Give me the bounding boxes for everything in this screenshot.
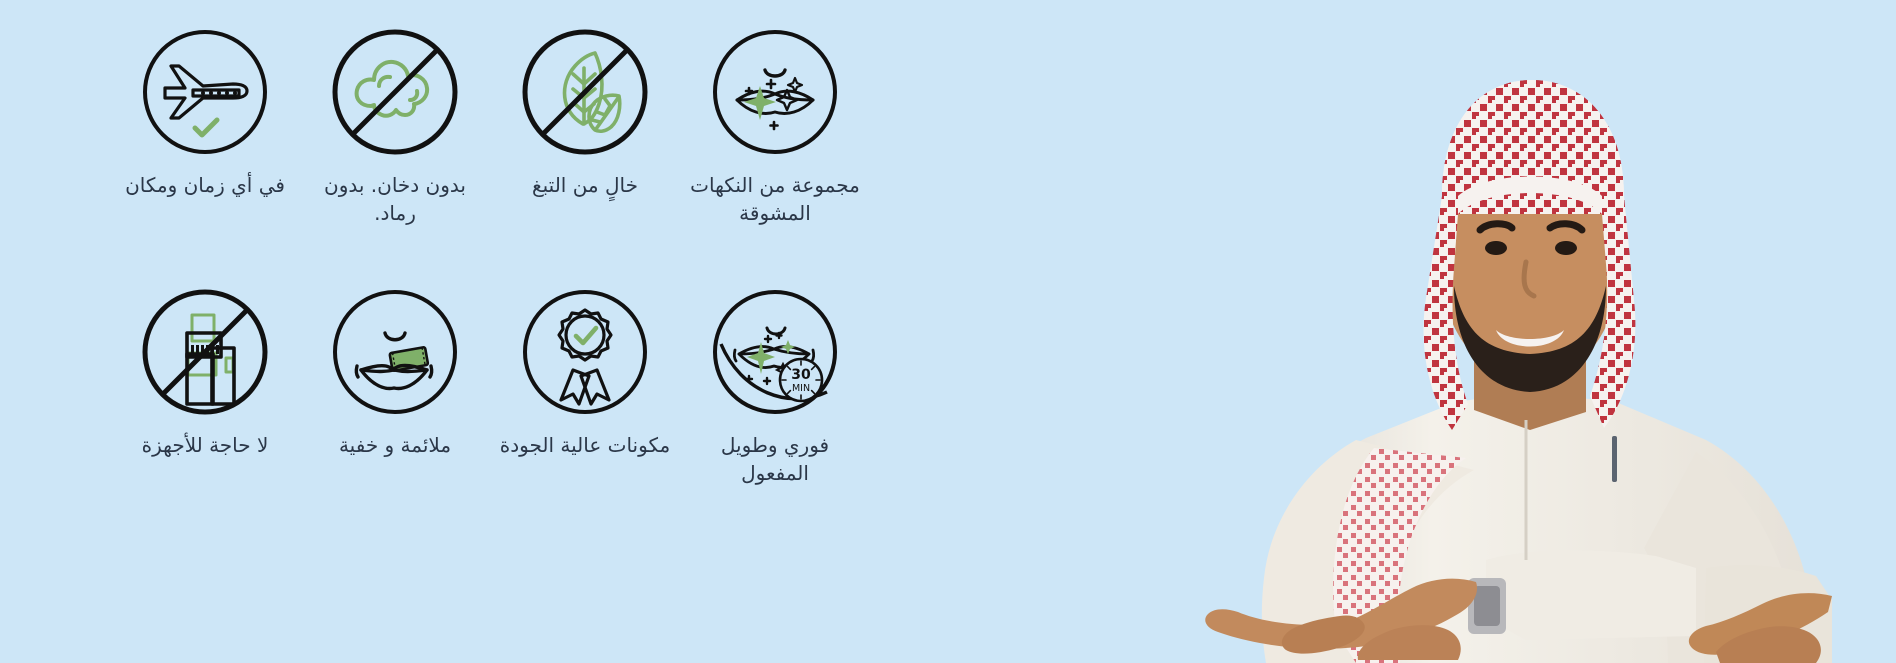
wristwatch bbox=[1468, 578, 1506, 634]
benefit-item-tobacco-free[interactable]: خالٍ من التبغ bbox=[490, 28, 680, 284]
lips-30-min-timer-icon: 30 MIN bbox=[711, 288, 839, 416]
hand-pointing-left-back bbox=[1689, 593, 1832, 663]
airplane-check-icon bbox=[141, 28, 269, 156]
pen bbox=[1612, 436, 1617, 482]
shemagh-crown bbox=[1442, 80, 1624, 206]
shemagh-shoulder-tail bbox=[1333, 448, 1466, 663]
no-smoke-cloud-icon bbox=[331, 28, 459, 156]
benefit-item-instant-long-lasting[interactable]: 30 MIN فوري وطويل المفعول bbox=[680, 284, 870, 540]
no-tobacco-leaf-icon bbox=[521, 28, 649, 156]
benefit-label: في أي زمان ومكان bbox=[115, 172, 295, 200]
face bbox=[1442, 164, 1618, 380]
promo-banner: في أي زمان ومكان بدون دخان. بدون رماد. bbox=[0, 0, 1896, 663]
no-vape-device-icon bbox=[141, 288, 269, 416]
facial-features bbox=[1480, 224, 1582, 296]
shemagh bbox=[1424, 80, 1636, 430]
benefit-item-anytime-anywhere[interactable]: في أي زمان ومكان bbox=[110, 28, 300, 284]
quality-award-ribbon-icon bbox=[521, 288, 649, 416]
benefit-label: ملائمة و خفية bbox=[305, 432, 485, 460]
benefit-item-high-quality[interactable]: مكونات عالية الجودة bbox=[490, 284, 680, 540]
timer-badge-value: 30 bbox=[791, 367, 811, 383]
benefit-item-no-devices[interactable]: لا حاجة للأجهزة bbox=[110, 284, 300, 540]
thobe bbox=[1268, 392, 1816, 663]
teeth-smile bbox=[1496, 330, 1564, 347]
benefit-label: لا حاجة للأجهزة bbox=[115, 432, 295, 460]
benefits-grid: في أي زمان ومكان بدون دخان. بدون رماد. bbox=[110, 28, 870, 540]
lips-pouch-discreet-icon bbox=[331, 288, 459, 416]
timer-badge-unit: MIN bbox=[792, 383, 810, 394]
benefit-label: خالٍ من التبغ bbox=[495, 172, 675, 200]
benefit-item-no-smoke-no-ash[interactable]: بدون دخان. بدون رماد. bbox=[300, 28, 490, 284]
cuff-right bbox=[1704, 565, 1832, 663]
neck bbox=[1474, 352, 1586, 430]
sleeve-left bbox=[1262, 440, 1474, 663]
sleeve-right bbox=[1644, 452, 1798, 663]
benefit-label: مجموعة من النكهات المشوقة bbox=[685, 172, 865, 227]
sparkling-lips-flavours-icon bbox=[711, 28, 839, 156]
benefit-item-flavour-range[interactable]: مجموعة من النكهات المشوقة bbox=[680, 28, 870, 284]
man-pointing-left-photo bbox=[1056, 0, 1896, 663]
shemagh-front-band bbox=[1458, 177, 1602, 215]
beard bbox=[1454, 286, 1606, 392]
benefit-label: فوري وطويل المفعول bbox=[685, 432, 865, 487]
benefit-label: بدون دخان. بدون رماد. bbox=[305, 172, 485, 227]
cuff-left bbox=[1486, 550, 1696, 640]
benefit-label: مكونات عالية الجودة bbox=[495, 432, 675, 460]
hand-pointing-left-front bbox=[1205, 579, 1477, 660]
benefit-item-convenient-discreet[interactable]: ملائمة و خفية bbox=[300, 284, 490, 540]
